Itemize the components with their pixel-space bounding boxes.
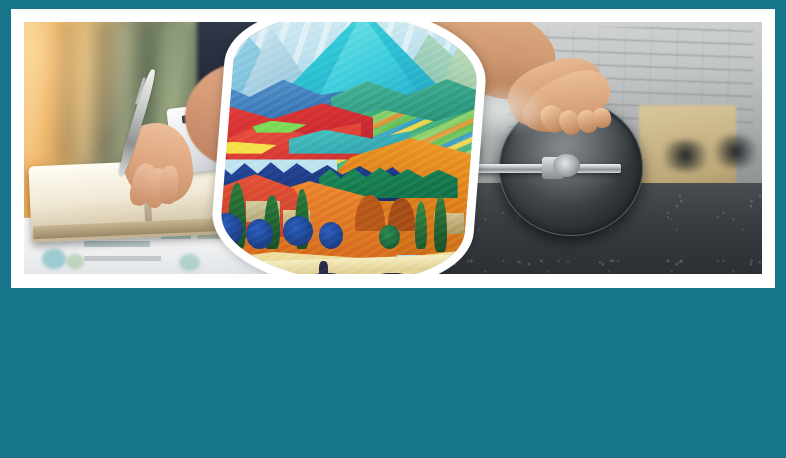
education-chart-dot <box>42 249 66 269</box>
education-chart-bar <box>84 241 150 247</box>
sport-background-weights <box>657 140 714 170</box>
photo-frame <box>11 9 775 288</box>
painting-brush-texture <box>217 22 481 274</box>
culture-painting <box>217 22 481 274</box>
photo-strip <box>24 22 762 274</box>
education-chart-bar <box>84 256 162 261</box>
education-chart-dot <box>66 254 84 269</box>
education-warm-light-glow <box>24 22 138 178</box>
ministry-band: ՀՀ ԿՐԹՈՒԹՅԱՆ, ԳԻՏՈՒԹՅԱՆ, ՄՇԱԿՈՒՅԹԻ ԵՎ ՍՊ… <box>0 288 786 458</box>
ministry-banner: ՀՀ ԿՐԹՈՒԹՅԱՆ, ԳԻՏՈՒԹՅԱՆ, ՄՇԱԿՈՒՅԹԻ ԵՎ ՍՊ… <box>0 0 786 458</box>
culture-photo <box>217 22 481 274</box>
sport-barbell-hub <box>553 154 579 177</box>
sport-background-weights <box>709 135 762 168</box>
